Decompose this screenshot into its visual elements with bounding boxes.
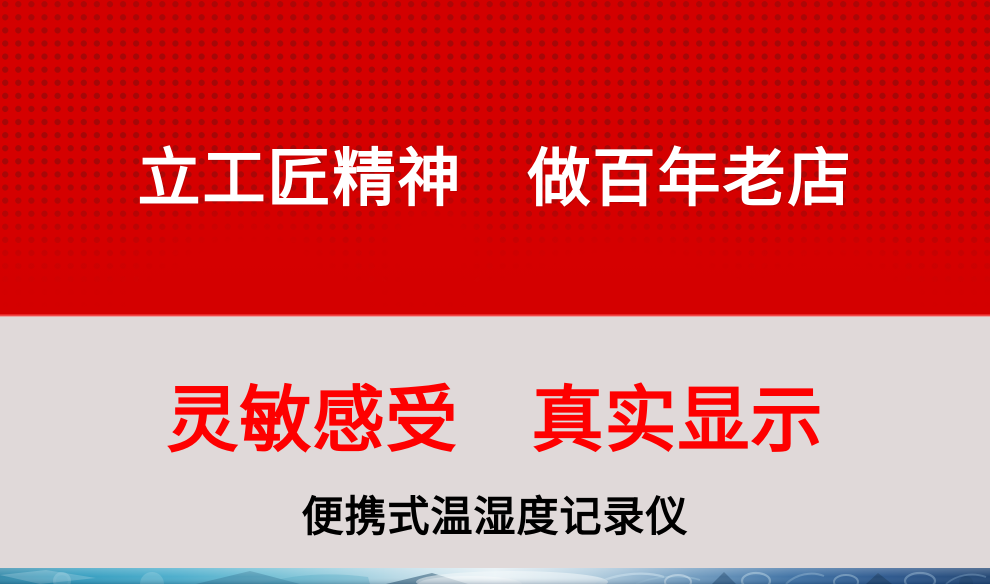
promo-poster: 立工匠精神 做百年老店 灵敏感受 真实显示 便携式温湿度记录仪 xyxy=(0,0,990,584)
banner-headline: 立工匠精神 做百年老店 xyxy=(0,137,990,221)
red-banner: 立工匠精神 做百年老店 xyxy=(0,0,990,317)
product-slogan: 灵敏感受 真实显示 xyxy=(0,374,990,466)
body-section: 灵敏感受 真实显示 便携式温湿度记录仪 xyxy=(0,317,990,568)
product-name: 便携式温湿度记录仪 xyxy=(0,490,990,544)
tech-strip-texture xyxy=(0,568,990,584)
footer-tech-strip xyxy=(0,568,990,584)
